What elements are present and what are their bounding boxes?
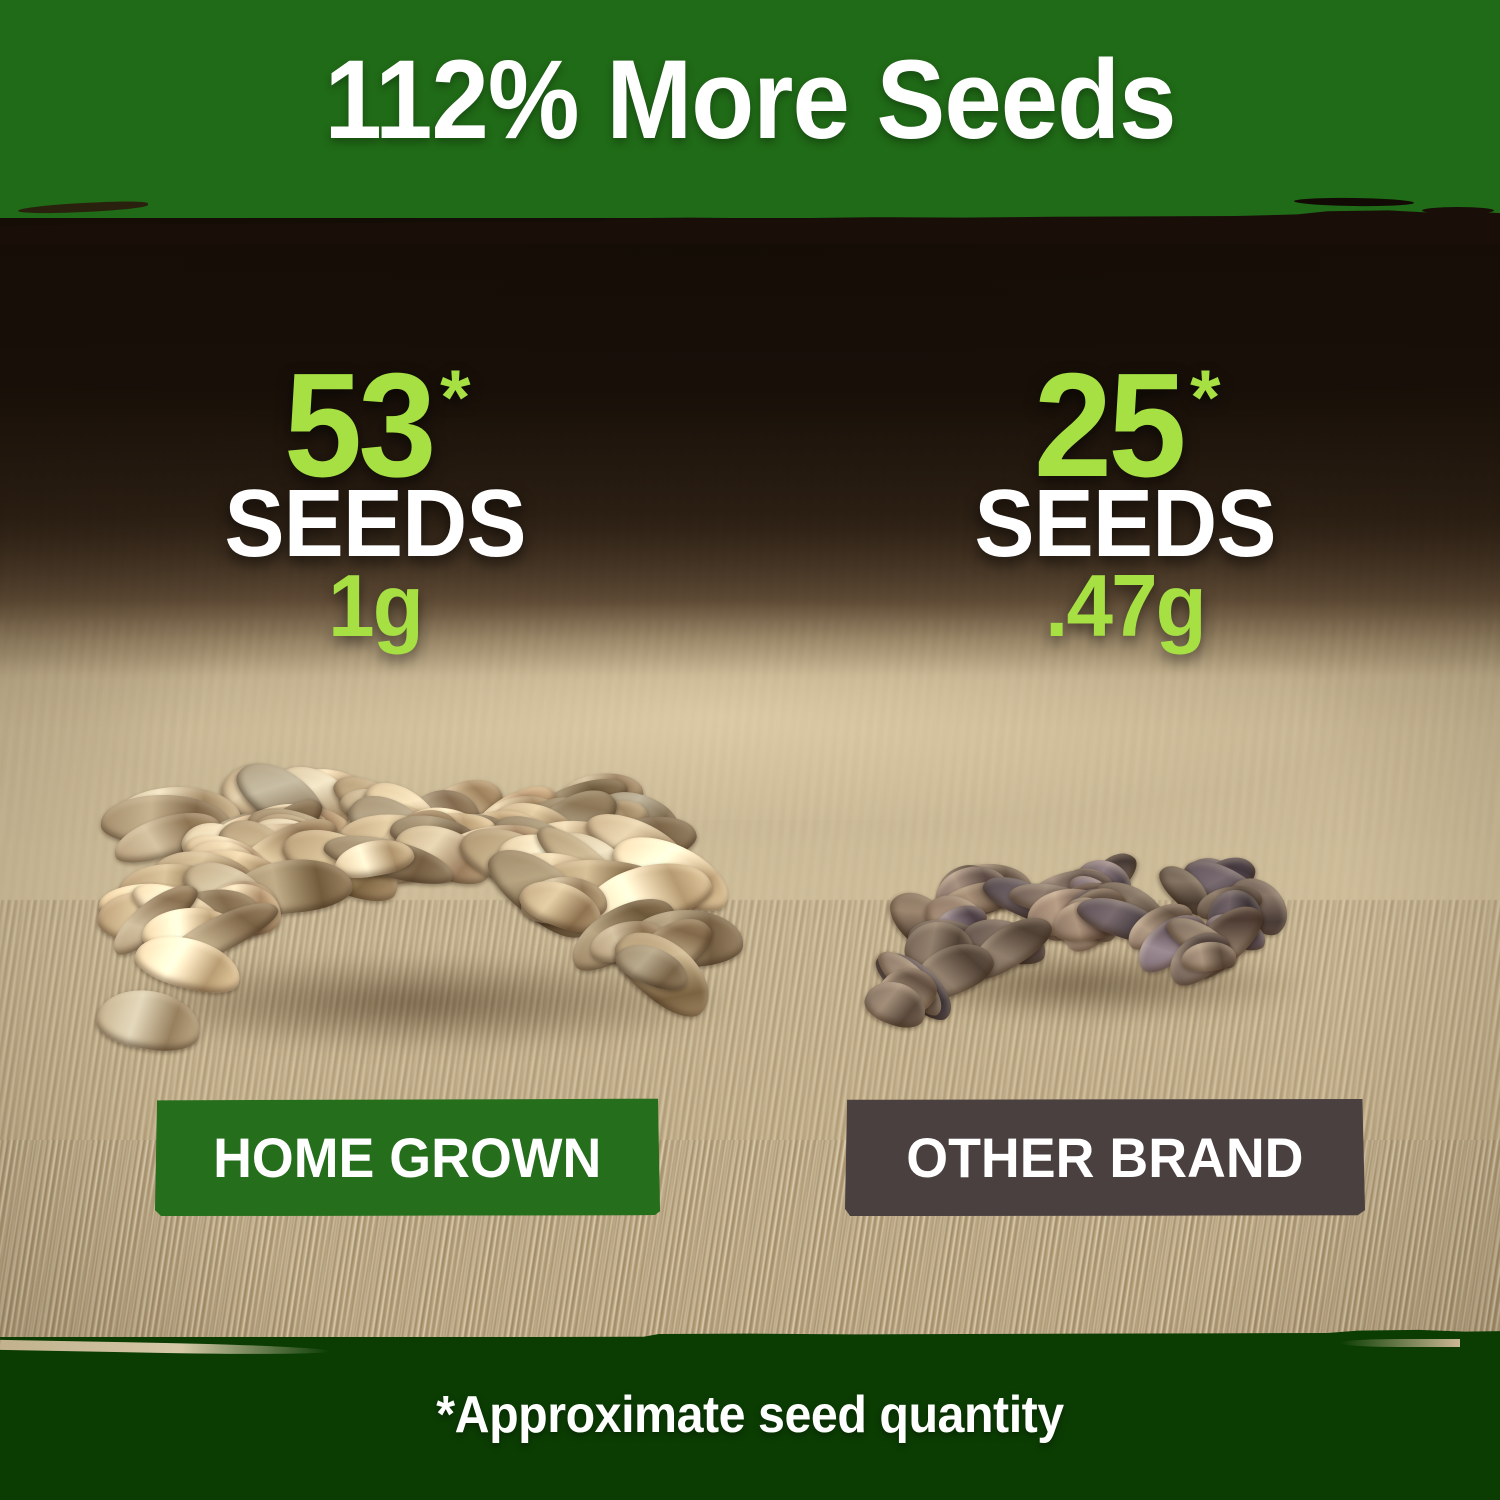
footer-wood-sliver-right	[1340, 1339, 1460, 1347]
home-grown-seed-pile	[95, 745, 735, 1035]
other-brand-seed-pile	[865, 845, 1305, 1020]
footer-banner: *Approximate seed quantity	[0, 1337, 1500, 1500]
other-brand-weight: .47g	[769, 562, 1482, 650]
home-grown-weight: 1g	[19, 562, 732, 650]
asterisk-icon: *	[440, 358, 470, 436]
banner-brush-fleck-corner	[1422, 207, 1494, 214]
banner-brush-fleck-left	[18, 200, 148, 215]
other-brand-stat-block: 25 * SEEDS .47g	[750, 352, 1500, 650]
header-banner: 112% More Seeds	[0, 0, 1500, 218]
home-grown-badge: HOME GROWN	[155, 1098, 660, 1216]
footnote-text: *Approximate seed quantity	[53, 1385, 1448, 1445]
home-grown-stat-block: 53 * SEEDS 1g	[0, 352, 750, 650]
other-brand-badge-label: OTHER BRAND	[906, 1125, 1303, 1190]
product-comparison-poster: 112% More Seeds 53 * SEEDS 1g 25 * SEEDS…	[0, 0, 1500, 1500]
stats-row: 53 * SEEDS 1g 25 * SEEDS .47g	[0, 352, 1500, 650]
page-title: 112% More Seeds	[60, 44, 1440, 156]
home-grown-badge-label: HOME GROWN	[213, 1125, 601, 1190]
banner-brush-fleck-right	[1294, 197, 1414, 207]
other-brand-badge: OTHER BRAND	[845, 1098, 1365, 1216]
asterisk-icon: *	[1190, 358, 1220, 436]
